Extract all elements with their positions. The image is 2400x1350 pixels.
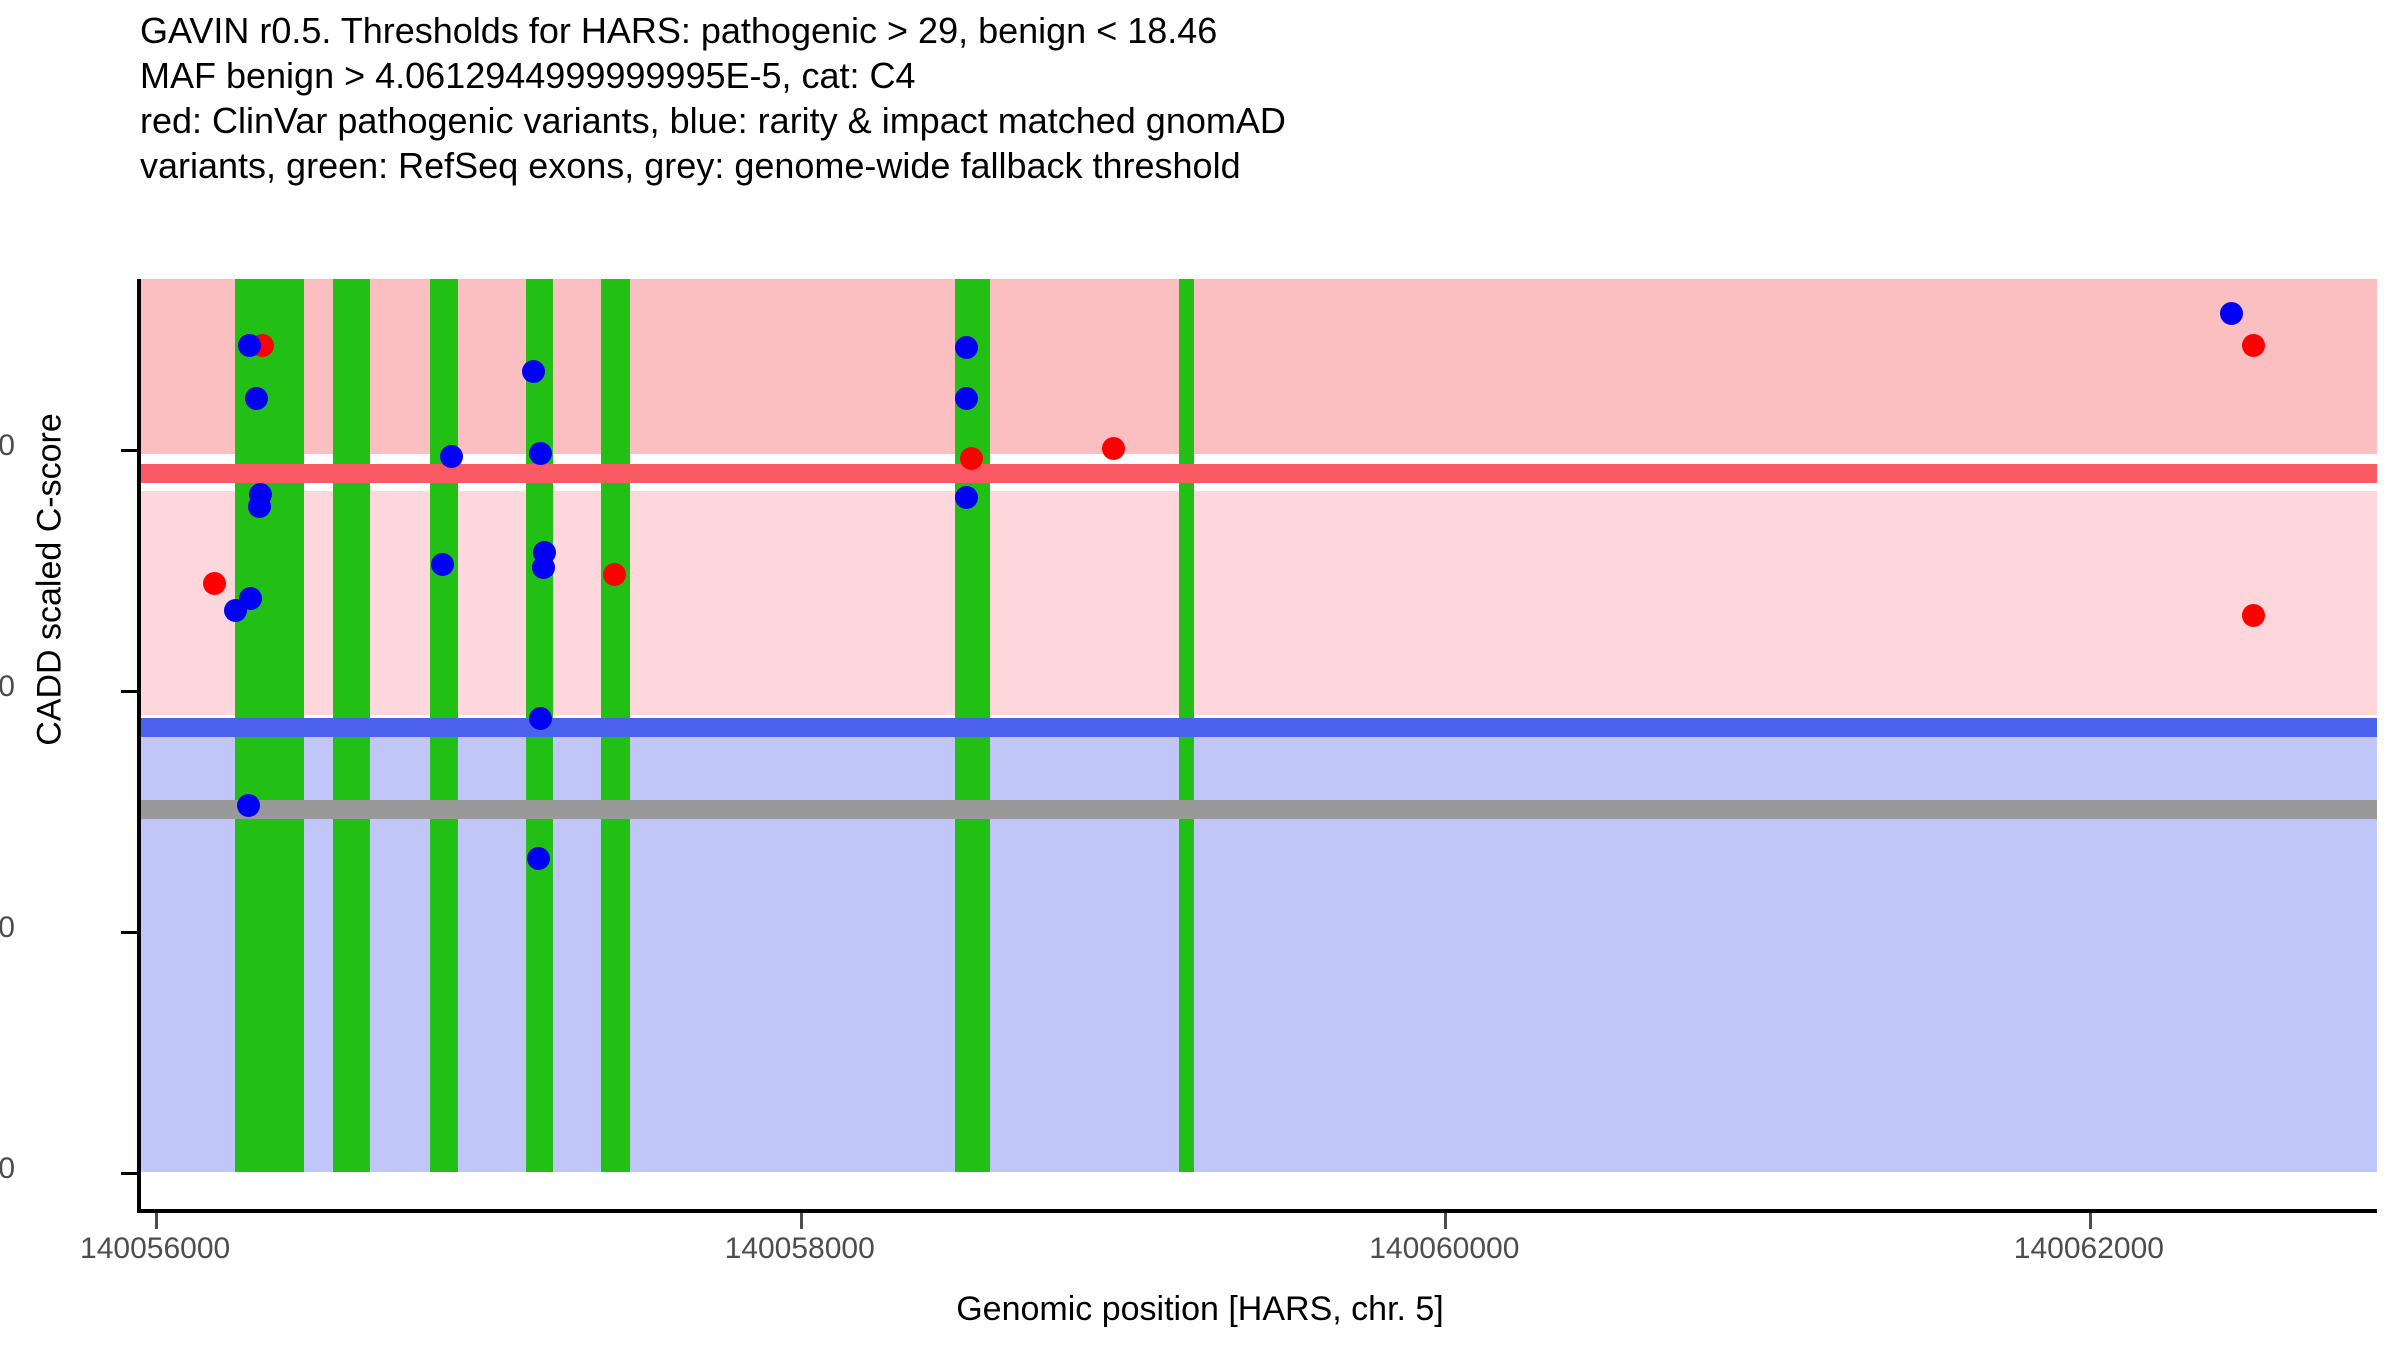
data-point-blue [955, 387, 978, 410]
data-point-red [203, 572, 226, 595]
data-point-blue [527, 847, 550, 870]
x-tick-label: 140060000 [1369, 1232, 1519, 1266]
x-axis-line [137, 1209, 2377, 1213]
threshold-band-pathogenic-upper [140, 279, 2377, 454]
data-point-blue [440, 445, 463, 468]
y-axis-line [137, 279, 141, 1213]
data-point-blue [239, 587, 262, 610]
data-point-blue [955, 336, 978, 359]
scatter-plot: 0102030 14005600014005800014006000014006… [0, 0, 2400, 1350]
data-point-red [2242, 334, 2265, 357]
threshold-line-benign [140, 718, 2377, 737]
y-tick-label: 0 [0, 1152, 15, 1186]
x-tick-label: 140062000 [2014, 1232, 2164, 1266]
x-axis-title: Genomic position [HARS, chr. 5] [0, 1290, 2400, 1329]
data-point-blue [955, 486, 978, 509]
y-tick-mark [121, 1172, 137, 1175]
threshold-band-pathogenic-lower [140, 491, 2377, 715]
data-point-red [1102, 437, 1125, 460]
data-point-red [603, 563, 626, 586]
y-tick-label: 20 [0, 670, 15, 704]
data-point-blue [245, 387, 268, 410]
data-point-red [960, 447, 983, 470]
y-tick-mark [121, 931, 137, 934]
plot-panel [140, 279, 2377, 1172]
data-point-blue [238, 334, 261, 357]
data-point-blue [431, 553, 454, 576]
x-tick-mark [1444, 1213, 1447, 1229]
y-tick-mark [121, 690, 137, 693]
y-axis-title: CADD scaled C-score [31, 230, 70, 930]
y-tick-label: 10 [0, 911, 15, 945]
x-tick-mark [800, 1213, 803, 1229]
data-point-red [2242, 604, 2265, 627]
x-tick-mark [155, 1213, 158, 1229]
x-tick-label: 140056000 [80, 1232, 230, 1266]
threshold-line-genome-wide-fallback [140, 800, 2377, 819]
data-point-blue [237, 794, 260, 817]
x-tick-mark [2089, 1213, 2092, 1229]
data-point-blue [532, 556, 555, 579]
data-point-blue [248, 495, 271, 518]
x-tick-label: 140058000 [725, 1232, 875, 1266]
threshold-line-pathogenic [140, 464, 2377, 483]
y-tick-mark [121, 449, 137, 452]
y-tick-label: 30 [0, 429, 15, 463]
